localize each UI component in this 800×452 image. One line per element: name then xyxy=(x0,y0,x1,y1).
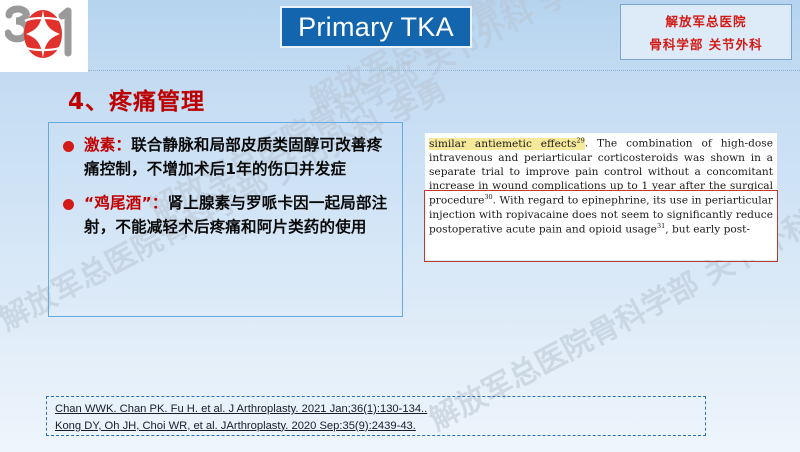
bullet-dot-icon xyxy=(63,141,74,152)
header-divider xyxy=(88,70,800,71)
excerpt-part-3: , but early post- xyxy=(665,223,750,235)
list-item: 激素：联合静脉和局部皮质类固醇可改善疼痛控制，不增加术后1年的伤口并发症 xyxy=(59,133,390,181)
bullet-text: 激素：联合静脉和局部皮质类固醇可改善疼痛控制，不增加术后1年的伤口并发症 xyxy=(84,133,390,181)
reference-superscript: 30 xyxy=(484,193,492,201)
bullet-text: “鸡尾酒”：肾上腺素与罗哌卡因一起局部注射，不能减轻术后疼痛和阿片类药的使用 xyxy=(84,191,390,239)
citation-line: Chan WWK. Chan PK. Fu H. et al. J Arthro… xyxy=(55,401,697,418)
slide-title-box: Primary TKA xyxy=(280,6,472,48)
logo-icon xyxy=(5,5,83,67)
english-excerpt-panel: similar antiemetic effects29. The combin… xyxy=(425,133,777,260)
citation-box: Chan WWK. Chan PK. Fu H. et al. J Arthro… xyxy=(46,396,706,436)
bullet-lead: 激素： xyxy=(84,136,131,154)
page-title: Primary TKA xyxy=(298,14,454,41)
bullet-panel: 激素：联合静脉和局部皮质类固醇可改善疼痛控制，不增加术后1年的伤口并发症 “鸡尾… xyxy=(48,122,403,317)
highlighted-text: similar antiemetic effects xyxy=(429,138,576,150)
bullet-lead: “鸡尾酒”： xyxy=(84,194,168,212)
department-badge: 解放军总医院 骨科学部 关节外科 xyxy=(620,4,792,60)
hospital-name: 解放军总医院 xyxy=(665,11,746,30)
reference-superscript: 29 xyxy=(576,136,584,144)
section-heading: 4、疼痛管理 xyxy=(68,82,205,116)
slide-header: Primary TKA 解放军总医院 骨科学部 关节外科 xyxy=(0,0,800,72)
slide-canvas: 解放军总医院骨科学部 关节外科 李勇 解放军总医院骨科学部 关节外科 李勇 解放… xyxy=(0,0,800,452)
highlighted-phrase: similar antiemetic effects29 xyxy=(429,138,585,150)
citation-line: Kong DY, Oh JH, Choi WR, et al. JArthrop… xyxy=(55,418,697,435)
list-item: “鸡尾酒”：肾上腺素与罗哌卡因一起局部注射，不能减轻术后疼痛和阿片类药的使用 xyxy=(59,191,390,239)
bullet-dot-icon xyxy=(63,199,74,210)
department-name: 骨科学部 关节外科 xyxy=(649,34,762,53)
301-hospital-logo xyxy=(0,0,88,72)
reference-superscript: 31 xyxy=(657,222,665,230)
